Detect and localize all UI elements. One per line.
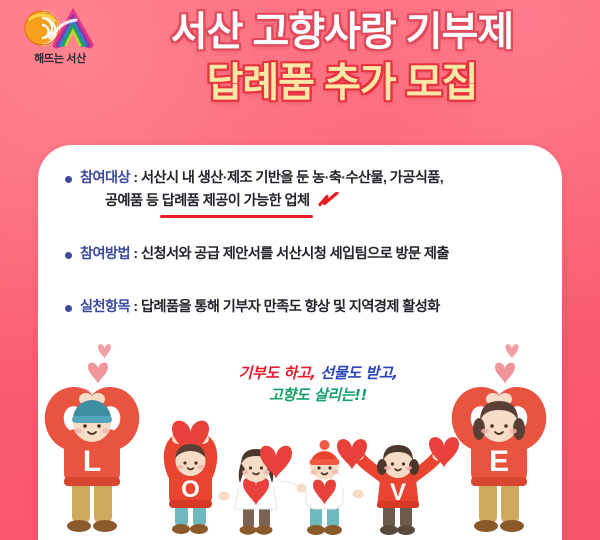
poster-root: 해뜨는 서산 서산 고향사랑 기부제 답례품 추가 모집 참여대상 : 서산시 …: [0, 0, 600, 540]
red-swoosh-icon: [317, 192, 339, 207]
bullet-separator: :: [130, 170, 141, 186]
figure-child-o: O: [169, 421, 212, 534]
content-card: 참여대상 : 서산시 내 생산·제조 기반을 둔 농·축·수산물, 가공식품, …: [38, 145, 562, 540]
bullet-separator: :: [130, 246, 141, 262]
letter-O: O: [181, 476, 200, 503]
bullet-list: 참여대상 : 서산시 내 생산·제조 기반을 둔 농·축·수산물, 가공식품, …: [38, 167, 562, 343]
bullet-line-1: 답례품을 통해 기부자 만족도 향상 및 지역경제 활성화: [141, 299, 440, 315]
bullet-dot-icon: [65, 176, 72, 183]
bullet-dot-icon: [65, 305, 72, 312]
figure-woman-tall-right: E: [461, 393, 537, 532]
figure-man-tall-left: L: [54, 393, 130, 532]
bullet-line-2-prefix: 공예품 등: [105, 193, 162, 209]
letter-V: V: [390, 479, 406, 506]
bullet-text: 참여방법 : 신청서와 공급 제안서를 서산시청 세입팀으로 방문 제출: [80, 243, 548, 266]
bullet-line-2: 공예품 등 답례품 제공이 가능한 업체: [80, 190, 548, 213]
title-line-2: 답례품 추가 모집: [96, 61, 588, 106]
logo-mark-icon: [20, 8, 100, 50]
bullet-item-participation-target: 참여대상 : 서산시 내 생산·제조 기반을 둔 농·축·수산물, 가공식품, …: [38, 167, 562, 213]
bullet-line-1: 서산시 내 생산·제조 기반을 둔 농·축·수산물, 가공식품,: [141, 170, 443, 186]
bullet-separator: :: [130, 299, 141, 315]
letter-E: E: [489, 445, 509, 478]
logo-text: 해뜨는 서산: [14, 50, 106, 66]
bullet-line-1: 신청서와 공급 제안서를 서산시청 세입팀으로 방문 제출: [141, 246, 449, 262]
bullet-label: 실천항목: [80, 299, 130, 315]
bullet-line-2-underlined: 답례품 제공이 가능한 업체: [162, 190, 310, 213]
love-family-illustration: L: [38, 337, 562, 540]
bullet-text: 실천항목 : 답례품을 통해 기부자 만족도 향상 및 지역경제 활성화: [80, 296, 548, 319]
poster-header: 해뜨는 서산 서산 고향사랑 기부제 답례품 추가 모집: [0, 0, 600, 140]
title-line-1: 서산 고향사랑 기부제: [96, 10, 588, 55]
seosan-city-logo: 해뜨는 서산: [14, 8, 106, 70]
bullet-dot-icon: [65, 252, 72, 259]
bullet-item-action-goal: 실천항목 : 답례품을 통해 기부자 만족도 향상 및 지역경제 활성화: [38, 296, 562, 319]
bullet-label: 참여방법: [80, 246, 130, 262]
bullet-item-participation-method: 참여방법 : 신청서와 공급 제안서를 서산시청 세입팀으로 방문 제출: [38, 243, 562, 266]
poster-title: 서산 고향사랑 기부제 답례품 추가 모집: [96, 6, 588, 106]
bullet-label: 참여대상: [80, 170, 130, 186]
bullet-text: 참여대상 : 서산시 내 생산·제조 기반을 둔 농·축·수산물, 가공식품, …: [80, 167, 548, 213]
letter-L: L: [83, 445, 101, 478]
